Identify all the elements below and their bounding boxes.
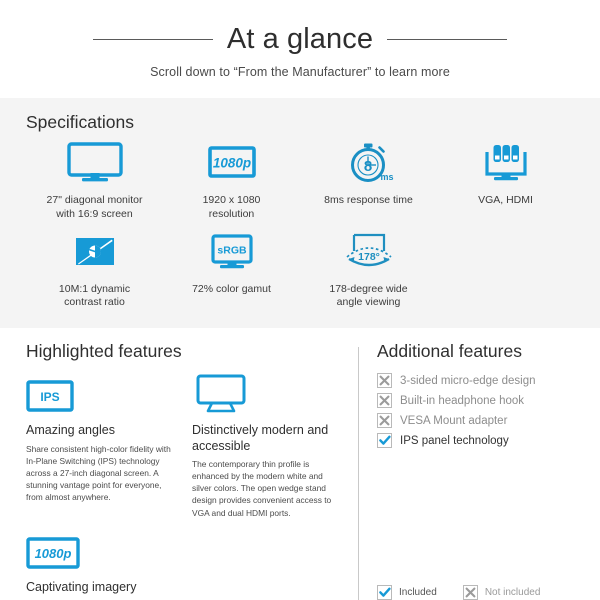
additional-feature-label: IPS panel technology	[400, 435, 509, 447]
srgb-monitor-icon: sRGB	[163, 228, 300, 276]
highlighted-features-panel: Highlighted features IPS Amazing angles …	[0, 341, 358, 600]
additional-feature-label: Built-in headphone hook	[400, 395, 524, 407]
feature-title: Amazing angles	[26, 423, 176, 438]
list-item: VESA Mount adapter	[377, 413, 586, 428]
1080p-badge-text: 1080p	[35, 546, 72, 561]
highlighted-features-row: IPS Amazing angles Share consistent high…	[26, 370, 344, 518]
viewing-angle-value: 178°	[358, 251, 380, 263]
additional-features-heading: Additional features	[377, 341, 586, 362]
cross-icon	[463, 585, 478, 600]
highlighted-features-heading: Highlighted features	[26, 341, 344, 362]
spec-item-response-time: 8 ms 8ms response time	[300, 139, 437, 222]
feature-amazing-angles: IPS Amazing angles Share consistent high…	[26, 370, 176, 518]
specifications-section: Specifications 27" diagonal monitorwith …	[0, 98, 600, 328]
legend-not-included-label: Not included	[485, 587, 541, 598]
title-row: At a glance	[0, 24, 600, 56]
spec-label: 72% color gamut	[163, 283, 300, 297]
ports-monitor-icon	[437, 139, 574, 187]
list-item: IPS panel technology	[377, 433, 586, 448]
thin-monitor-icon	[192, 370, 342, 414]
spec-item-contrast-ratio: 10M:1 dynamiccontrast ratio	[26, 228, 163, 311]
legend-included-label: Included	[399, 587, 437, 598]
list-item: 3-sided micro-edge design	[377, 373, 586, 388]
spec-label: 10M:1 dynamiccontrast ratio	[26, 283, 163, 311]
srgb-badge-text: sRGB	[217, 244, 247, 256]
page-subtitle: Scroll down to “From the Manufacturer” t…	[0, 65, 600, 79]
spec-item-screen-size: 27" diagonal monitorwith 16:9 screen	[26, 139, 163, 222]
additional-feature-label: 3-sided micro-edge design	[400, 375, 536, 387]
check-icon	[377, 585, 392, 600]
spec-item-placeholder	[437, 228, 574, 311]
spec-label: 178-degree wideangle viewing	[300, 283, 437, 311]
specifications-row-2: 10M:1 dynamiccontrast ratio sRGB 72% col…	[26, 228, 574, 311]
specifications-heading: Specifications	[26, 112, 574, 133]
legend: Included Not included	[377, 585, 540, 600]
spec-label: 8ms response time	[300, 194, 437, 208]
highlighted-features-row-2: 1080p Captivating imagery Color and clar…	[26, 527, 344, 600]
spec-label: VGA, HDMI	[437, 194, 574, 208]
stopwatch-value: 8	[363, 158, 371, 175]
list-item: Built-in headphone hook	[377, 393, 586, 408]
feature-title: Captivating imagery	[26, 580, 326, 595]
ips-badge-icon: IPS	[26, 370, 176, 414]
contrast-icon	[26, 228, 163, 276]
spec-item-viewing-angle: 178° 178-degree wideangle viewing	[300, 228, 437, 311]
1080p-badge-icon: 1080p	[163, 139, 300, 187]
1080p-badge-icon: 1080p	[26, 527, 326, 571]
check-icon	[377, 433, 392, 448]
cross-icon	[377, 373, 392, 388]
feature-body: The contemporary thin profile is enhance…	[192, 458, 342, 519]
lower-section: Highlighted features IPS Amazing angles …	[0, 328, 600, 600]
spec-label: 1920 x 1080resolution	[163, 194, 300, 222]
feature-title: Distinctively modern and accessible	[192, 423, 342, 454]
ips-badge-text: IPS	[40, 390, 59, 404]
spec-label: 27" diagonal monitorwith 16:9 screen	[26, 194, 163, 222]
infographic-page: At a glance Scroll down to “From the Man…	[0, 0, 600, 600]
additional-feature-label: VESA Mount adapter	[400, 415, 507, 427]
feature-distinctively-modern: Distinctively modern and accessible The …	[192, 370, 342, 518]
svg-text:1080p: 1080p	[212, 155, 250, 170]
feature-body: Share consistent high-color fidelity wit…	[26, 443, 176, 504]
spec-item-ports: VGA, HDMI	[437, 139, 574, 222]
viewing-angle-icon: 178°	[300, 228, 437, 276]
cross-icon	[377, 393, 392, 408]
cross-icon	[377, 413, 392, 428]
specifications-row-1: 27" diagonal monitorwith 16:9 screen 108…	[26, 139, 574, 222]
additional-features-panel: Additional features 3-sided micro-edge d…	[359, 341, 600, 600]
stopwatch-icon: 8 ms	[300, 139, 437, 187]
additional-features-list: 3-sided micro-edge design Built-in headp…	[377, 373, 586, 448]
header: At a glance Scroll down to “From the Man…	[0, 0, 600, 79]
stopwatch-unit: ms	[380, 172, 393, 182]
spec-item-color-gamut: sRGB 72% color gamut	[163, 228, 300, 311]
monitor-icon	[26, 139, 163, 187]
feature-captivating-imagery: 1080p Captivating imagery Color and clar…	[26, 527, 326, 600]
spec-item-resolution: 1080p 1920 x 1080resolution	[163, 139, 300, 222]
rule-right	[387, 39, 507, 40]
page-title: At a glance	[227, 24, 373, 56]
rule-left	[93, 39, 213, 40]
